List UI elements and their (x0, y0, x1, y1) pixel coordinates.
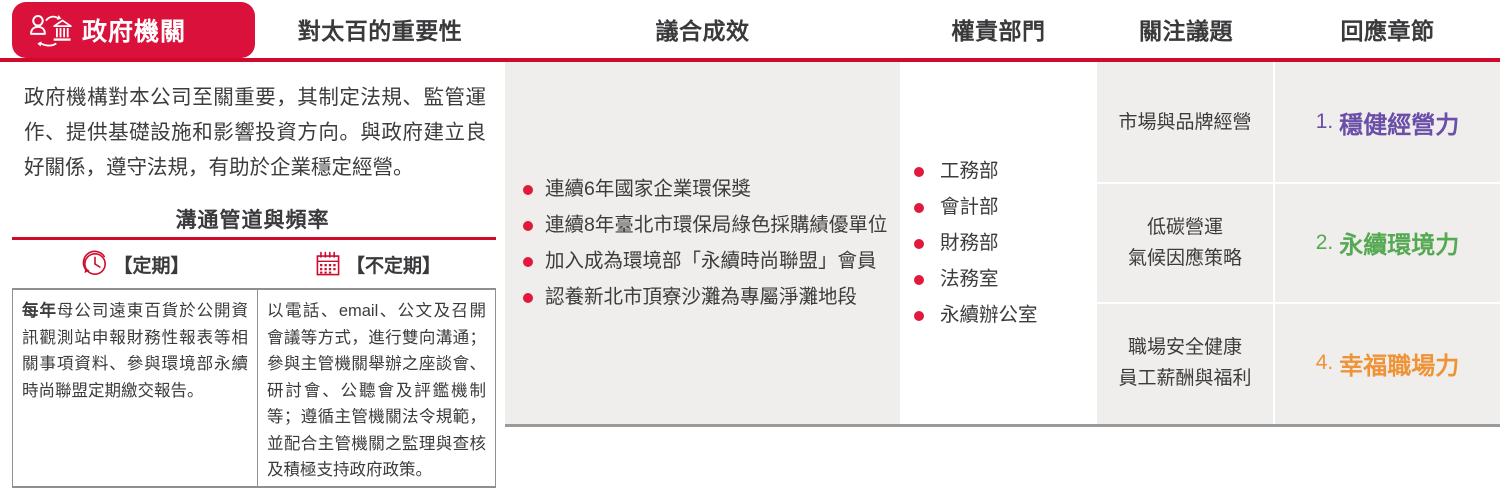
topic-line: 員工薪酬與福利 (1118, 363, 1251, 394)
calendar-icon (313, 249, 343, 279)
frequency-regular-header: 【定期】 (12, 240, 258, 288)
frequency-irregular-header: 【不定期】 (258, 240, 496, 288)
list-item: 連續6年國家企業環保獎 (523, 171, 887, 207)
frequency-regular-body: 每年母公司遠東百貨於公開資訊觀測站申報財務性報表等相關事項資料、參與環境部永續時… (12, 290, 258, 487)
frequency-irregular-body: 以電話、email、公文及召開會議等方式，進行雙向溝通；參與主管機關舉辦之座談會… (258, 290, 496, 487)
topic-line: 低碳營運 (1147, 212, 1223, 243)
chapter-number: 2. (1316, 231, 1334, 255)
column-header-topics-label: 關注議題 (1139, 12, 1233, 46)
chapter-title: 永續環境力 (1339, 225, 1459, 260)
outcomes-list: 連續6年國家企業環保獎 連續8年臺北市環保局綠色採購績優單位 加入成為環境部「永… (505, 171, 887, 315)
stakeholder-engagement-table: 政府機關 對太百的重要性 議合成效 權責部門 關注議題 回應章節 政府機構對本公… (0, 0, 1500, 437)
frequency-regular-lead: 每年 (22, 302, 57, 320)
topic-cell: 職場安全健康 員工薪酬與福利 (1097, 303, 1275, 424)
list-item: 連續8年臺北市環保局綠色採購績優單位 (523, 207, 887, 243)
stakeholder-tab-label: 政府機關 (82, 12, 186, 48)
chapter-cell[interactable]: 1. 穩健經營力 (1275, 62, 1500, 183)
stakeholder-tab[interactable]: 政府機關 (12, 2, 255, 58)
topic-line: 職場安全健康 (1128, 332, 1242, 363)
column-header-departments: 權責部門 (900, 0, 1097, 58)
government-person-exchange-icon (28, 12, 74, 48)
list-item: 法務室 (914, 261, 1038, 297)
chapter-number: 1. (1316, 110, 1334, 134)
chapter-title: 幸福職場力 (1339, 346, 1459, 381)
list-item: 認養新北市頂寮沙灘為專屬淨灘地段 (523, 279, 887, 315)
column-header-chapters-label: 回應章節 (1341, 12, 1435, 46)
clock-icon (80, 249, 110, 279)
list-item: 永續辦公室 (914, 297, 1038, 333)
topic-line: 氣候因應策略 (1128, 243, 1242, 274)
list-item: 財務部 (914, 225, 1038, 261)
column-header-importance-label: 對太百的重要性 (298, 12, 463, 46)
chapter-title: 穩健經營力 (1339, 105, 1459, 140)
frequency-regular-label: 【定期】 (113, 251, 189, 278)
column-header-topics: 關注議題 (1097, 0, 1275, 58)
topic-cell: 低碳營運 氣候因應策略 (1097, 183, 1275, 304)
table-row: 職場安全健康 員工薪酬與福利 4. 幸福職場力 (1097, 303, 1500, 424)
list-item: 加入成為環境部「永續時尚聯盟」會員 (523, 243, 887, 279)
topic-cell: 市場與品牌經營 (1097, 62, 1275, 183)
column-header-chapters: 回應章節 (1275, 0, 1500, 58)
chapter-cell[interactable]: 4. 幸福職場力 (1275, 303, 1500, 424)
table-row: 低碳營運 氣候因應策略 2. 永續環境力 (1097, 183, 1500, 304)
frequency-irregular-label: 【不定期】 (346, 251, 441, 278)
departments-column: 工務部 會計部 財務部 法務室 永續辦公室 (900, 62, 1097, 424)
table-header: 政府機關 對太百的重要性 議合成效 權責部門 關注議題 回應章節 (0, 0, 1500, 60)
chapter-number: 4. (1316, 351, 1334, 375)
table-row: 市場與品牌經營 1. 穩健經營力 (1097, 62, 1500, 183)
communication-title: 溝通管道與頻率 (0, 204, 505, 234)
list-item: 工務部 (914, 153, 1038, 189)
column-header-outcomes: 議合成效 (505, 0, 900, 58)
frequency-irregular-text: 以電話、email、公文及召開會議等方式，進行雙向溝通；參與主管機關舉辦之座談會… (267, 302, 486, 479)
topics-chapters-column: 市場與品牌經營 1. 穩健經營力 低碳營運 氣候因應策略 2. 永續環境力 職場… (1097, 62, 1500, 424)
column-header-importance: 對太百的重要性 (255, 0, 505, 58)
departments-list: 工務部 會計部 財務部 法務室 永續辦公室 (900, 153, 1038, 333)
topic-line: 市場與品牌經營 (1118, 107, 1251, 138)
list-item: 會計部 (914, 189, 1038, 225)
importance-paragraph: 政府機構對本公司至關重要，其制定法規、監管運作、提供基礎設施和影響投資方向。與政… (24, 80, 486, 185)
importance-column: 政府機構對本公司至關重要，其制定法規、監管運作、提供基礎設施和影響投資方向。與政… (0, 62, 505, 437)
column-header-outcomes-label: 議合成效 (656, 12, 750, 46)
chapter-cell[interactable]: 2. 永續環境力 (1275, 183, 1500, 304)
column-header-departments-label: 權責部門 (952, 12, 1046, 46)
table-bottom-rule (505, 424, 1500, 427)
outcomes-column: 連續6年國家企業環保獎 連續8年臺北市環保局綠色採購績優單位 加入成為環境部「永… (505, 62, 900, 424)
